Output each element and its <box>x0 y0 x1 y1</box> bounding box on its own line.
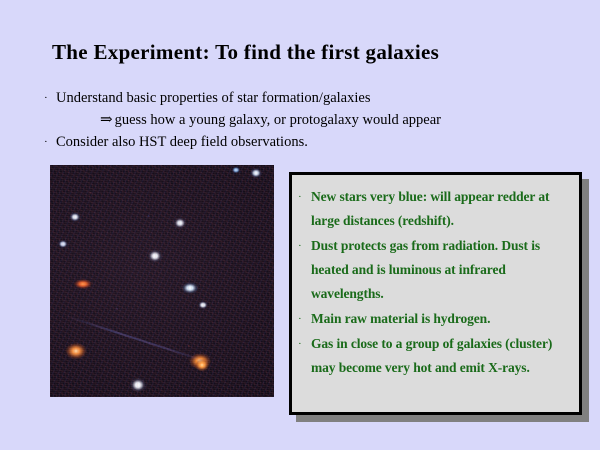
list-item: · Dust protects gas from radiation. Dust… <box>298 234 571 306</box>
bullet-marker-icon: · <box>44 87 56 109</box>
bullet-line-2: ⇒guess how a young galaxy, or protogalax… <box>44 109 564 131</box>
facts-bullet-list: · New stars very blue: will appear redde… <box>292 175 579 380</box>
image-noise-overlay <box>50 165 274 397</box>
double-right-arrow-icon: ⇒ <box>100 109 115 131</box>
slide-canvas: The Experiment: To find the first galaxi… <box>0 0 600 450</box>
bullet-line-1: ·Understand basic properties of star for… <box>44 87 564 109</box>
fact-text-1: New stars very blue: will appear redder … <box>311 185 571 233</box>
galaxy-streak <box>66 315 209 363</box>
bullet-marker-icon: · <box>44 131 56 153</box>
list-item: · Gas in close to a group of galaxies (c… <box>298 332 571 380</box>
facts-callout-box: · New stars very blue: will appear redde… <box>289 172 582 415</box>
bullet-marker-icon: · <box>298 185 311 209</box>
top-bullet-list: ·Understand basic properties of star for… <box>44 87 564 153</box>
deep-field-image <box>50 165 274 397</box>
bullet-line-1-text: Understand basic properties of star form… <box>56 90 370 106</box>
fact-text-4: Gas in close to a group of galaxies (clu… <box>311 332 571 380</box>
bullet-marker-icon: · <box>298 332 311 356</box>
bullet-marker-icon: · <box>298 307 311 331</box>
bullet-marker-icon: · <box>298 234 311 258</box>
fact-text-2: Dust protects gas from radiation. Dust i… <box>311 234 571 306</box>
page-title: The Experiment: To find the first galaxi… <box>52 40 439 65</box>
list-item: · New stars very blue: will appear redde… <box>298 185 571 233</box>
list-item: · Main raw material is hydrogen. <box>298 307 571 331</box>
bullet-line-2-text: guess how a young galaxy, or protogalaxy… <box>115 112 441 128</box>
bullet-line-3: ·Consider also HST deep field observatio… <box>44 131 564 153</box>
fact-text-3: Main raw material is hydrogen. <box>311 307 571 331</box>
bullet-line-3-text: Consider also HST deep field observation… <box>56 134 308 150</box>
